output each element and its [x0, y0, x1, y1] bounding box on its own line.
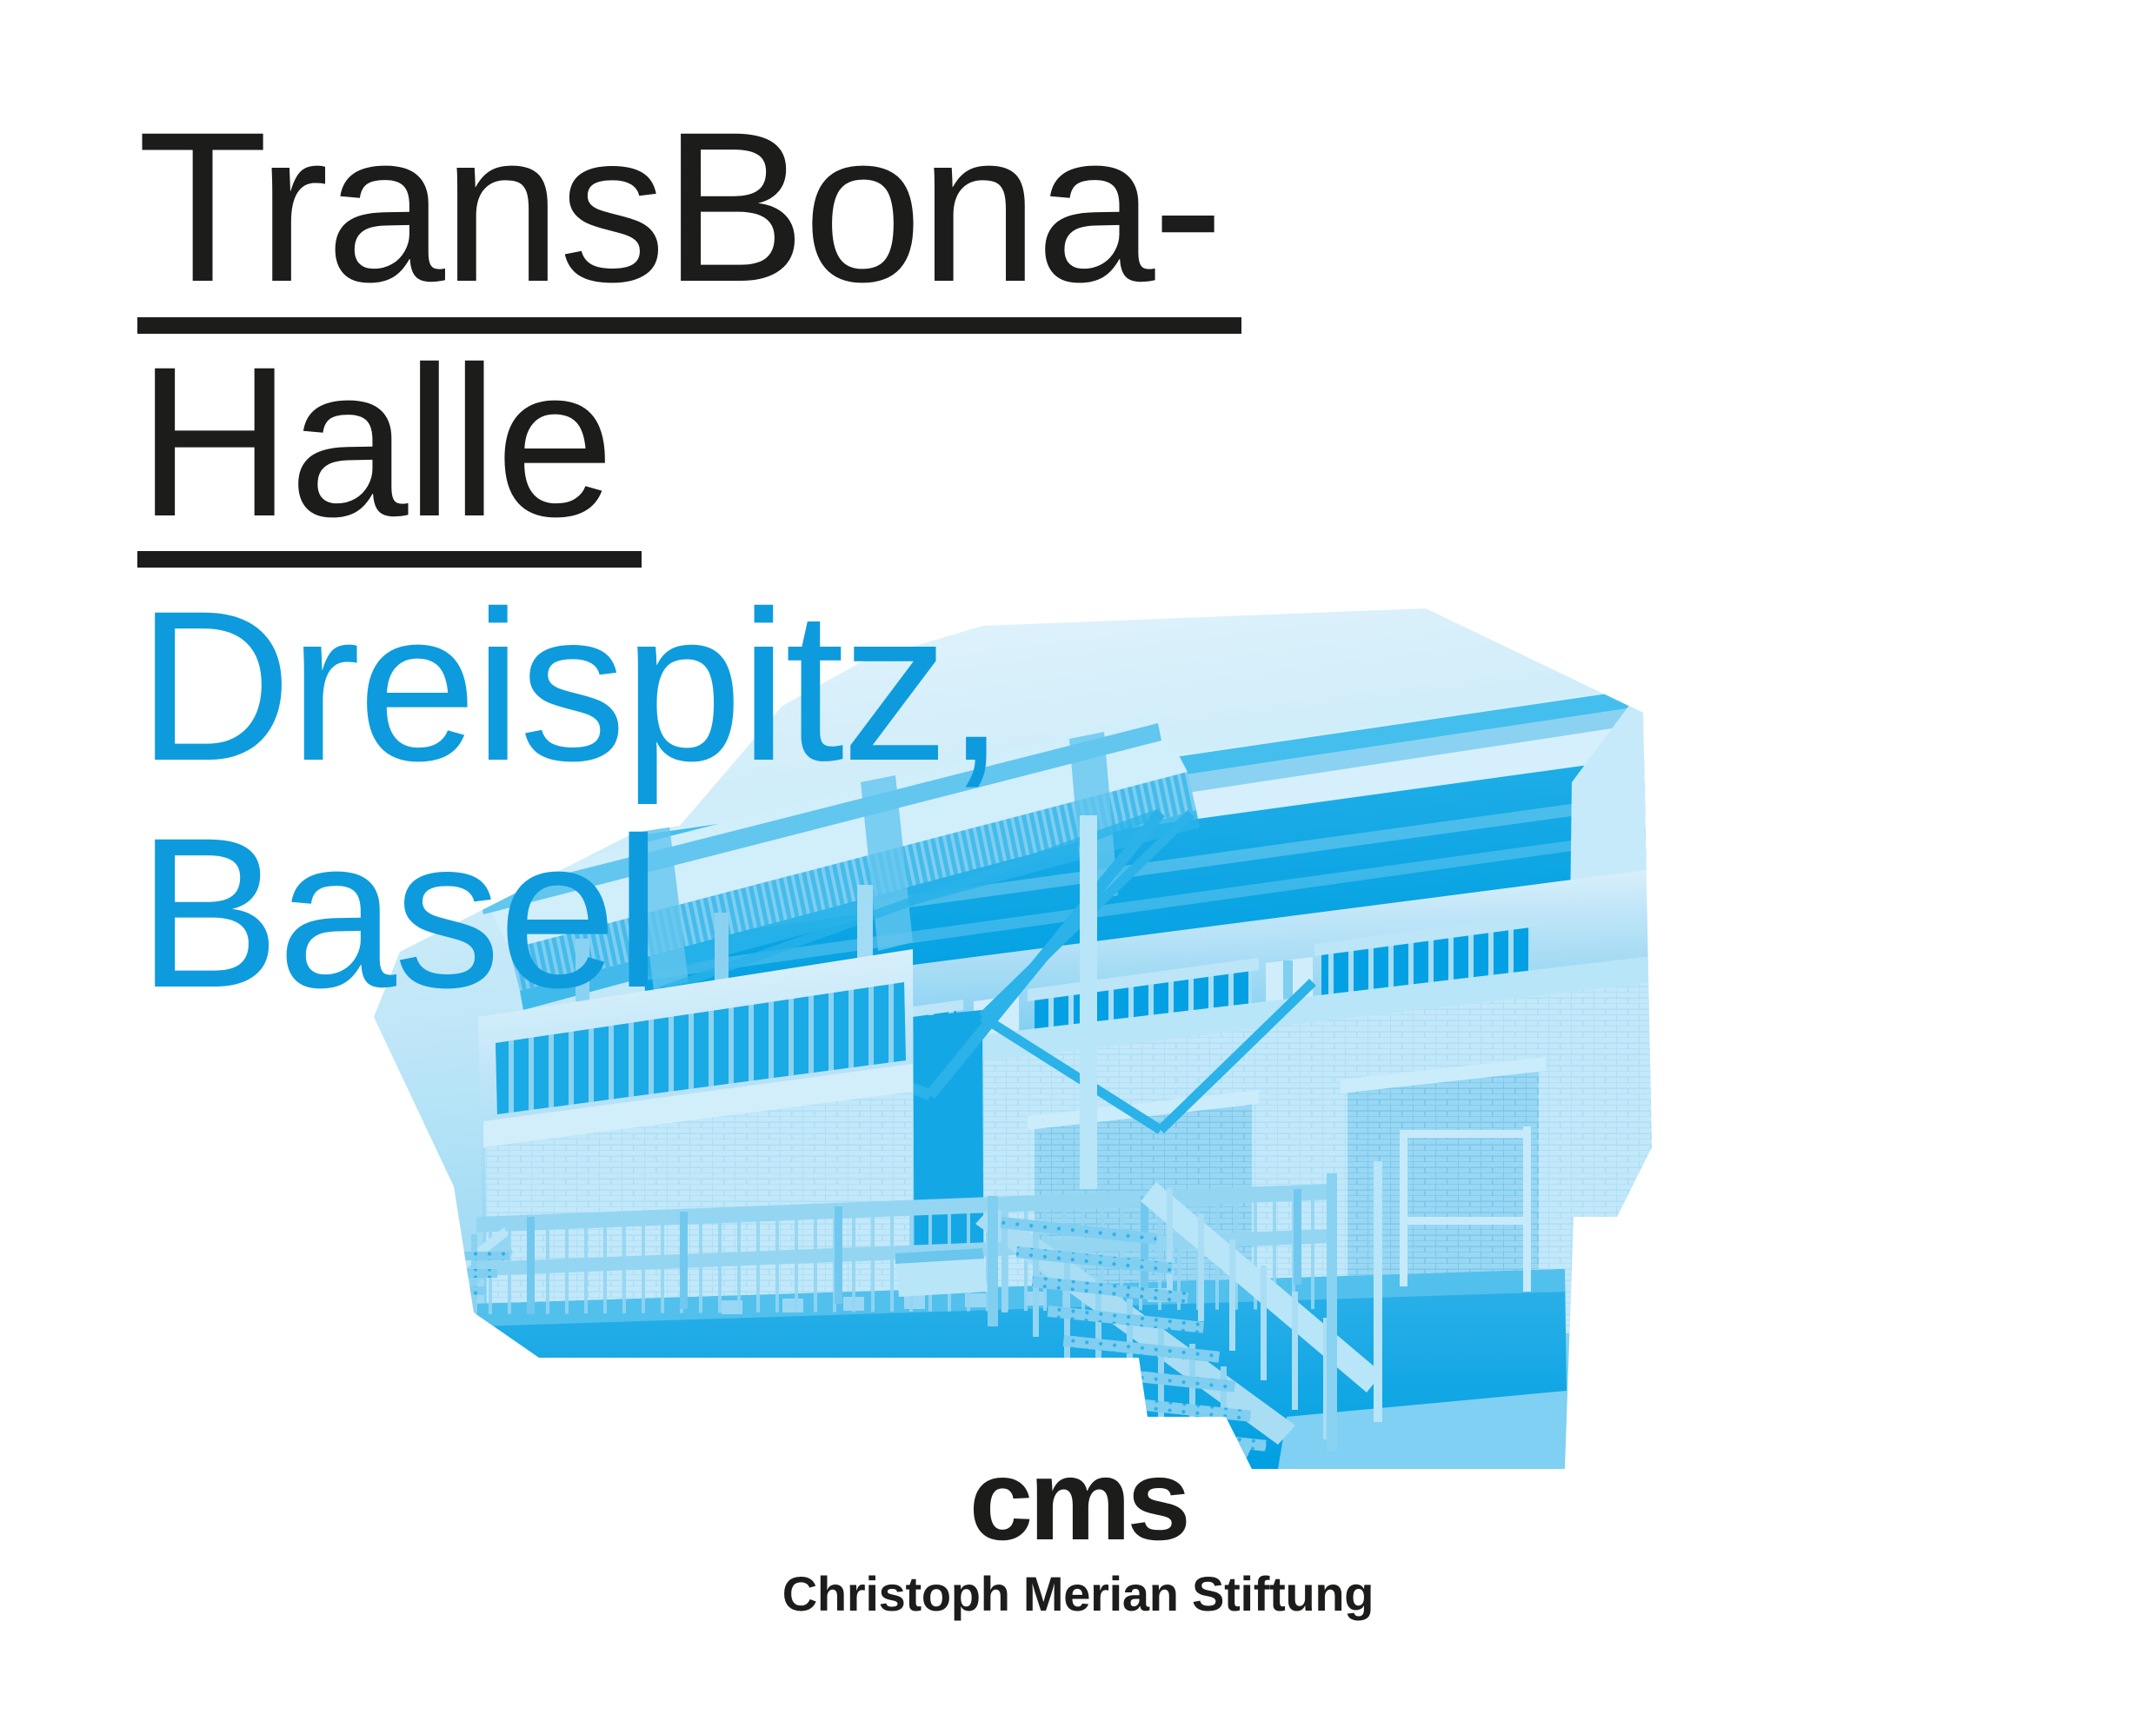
cms-logo: cms Christoph Merian Stiftung [765, 1443, 1391, 1618]
subtitle-line-2: Basel [137, 801, 1441, 1027]
entry-door-white [697, 1163, 767, 1330]
end-wall-right [1565, 687, 1671, 1356]
blind-panel-lintel-2 [1341, 1057, 1546, 1093]
left-wing-brick [485, 1092, 913, 1335]
blind-brick-panel-1 [1035, 1097, 1252, 1309]
upper-landing-rail [1400, 1126, 1531, 1292]
facade-pilaster-1 [974, 995, 1021, 1365]
entry-door-lintel [692, 1156, 772, 1182]
cms-wordmark: cms [765, 1443, 1391, 1558]
wall-sign-text: ZOLLHALLE [699, 1138, 771, 1151]
end-wall-door-panel [1589, 1095, 1654, 1356]
title-line-2: Halle [137, 339, 1441, 547]
subtitle-line-1: Dreispitz, [137, 574, 1441, 801]
blind-brick-panel-2 [1347, 1064, 1539, 1279]
blind-panel-lintel-1 [1028, 1090, 1259, 1130]
title-line-1: TransBona- [137, 104, 1441, 312]
roller-shutter-1 [807, 1151, 880, 1323]
wall-sign-plate [697, 1135, 772, 1153]
downpipe-elbow [1283, 1343, 1297, 1364]
roller-shutter-lintel-1 [802, 1144, 885, 1172]
dock-bumper-stripes [722, 1288, 1168, 1314]
poster-canvas: ZOLLHALLE [0, 0, 2156, 1721]
left-wing-white-band [483, 1064, 913, 1147]
recessed-bay-shadow [913, 1010, 984, 1366]
external-metal-staircase [967, 1161, 1387, 1469]
platform-edge-highlight [476, 1269, 1565, 1326]
steel-guard-railing [476, 1184, 1330, 1314]
left-staircase [403, 1227, 513, 1335]
dock-vent-panel [895, 1248, 988, 1297]
subtitle-block: Dreispitz, Basel [137, 574, 1441, 1027]
page-title-block: TransBona- Halle [137, 104, 1441, 573]
cms-full-name: Christoph Merian Stiftung [765, 1570, 1391, 1618]
dock-vent-lip [895, 1248, 984, 1264]
